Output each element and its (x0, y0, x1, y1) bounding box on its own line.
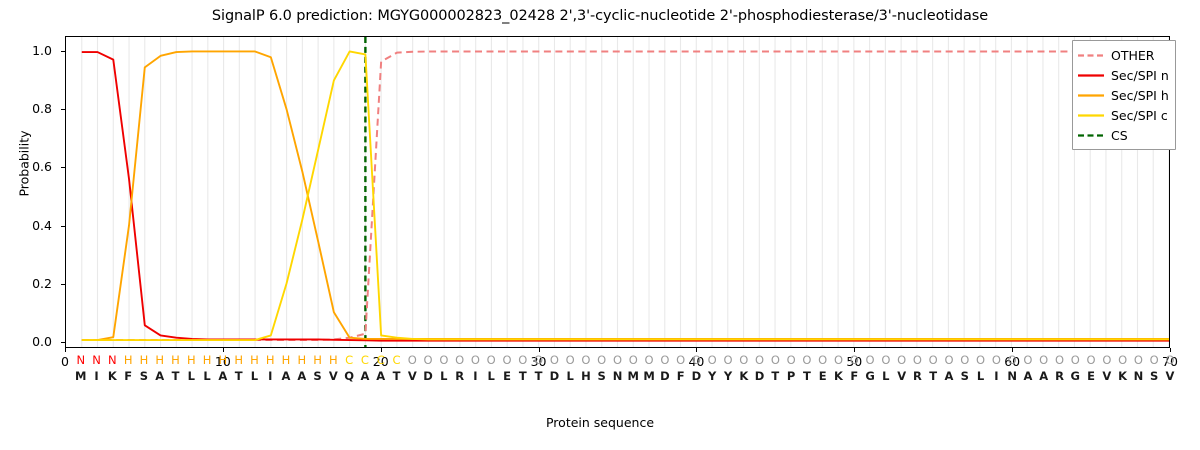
amino-acid-letter: V (1166, 368, 1175, 384)
region-annotation-letter: C (377, 352, 385, 368)
amino-acid-letter: T (519, 368, 527, 384)
region-annotation-letter: O (534, 352, 543, 368)
amino-acid-letter: G (865, 368, 874, 384)
amino-acid-letter: L (203, 368, 210, 384)
amino-acid-letter: I (994, 368, 998, 384)
amino-acid-letter: D (550, 368, 560, 384)
amino-acid-letter: D (423, 368, 433, 384)
region-annotation-letter: O (802, 352, 811, 368)
amino-acid-sequence-track: MIKFSATLLATLIAASVQAATVDLRILETTDLHSNMMDFD… (65, 368, 1170, 384)
region-annotation-letter: O (566, 352, 575, 368)
region-annotation-letter: H (140, 352, 149, 368)
region-annotation-letter: N (92, 352, 101, 368)
amino-acid-letter: A (297, 368, 306, 384)
amino-acid-letter: A (1039, 368, 1048, 384)
region-annotation-letter: O (487, 352, 496, 368)
amino-acid-letter: A (282, 368, 291, 384)
plot-area (65, 36, 1170, 348)
legend-line-swatch-icon (1078, 110, 1104, 121)
amino-acid-letter: E (1087, 368, 1095, 384)
region-annotation-letter: O (1008, 352, 1017, 368)
region-annotation-letter: C (345, 352, 353, 368)
amino-acid-letter: L (977, 368, 984, 384)
amino-acid-letter: R (455, 368, 464, 384)
legend-line-swatch-icon (1078, 130, 1104, 141)
amino-acid-letter: H (581, 368, 591, 384)
amino-acid-letter: Q (344, 368, 354, 384)
region-annotation-letter: H (203, 352, 212, 368)
amino-acid-letter: A (360, 368, 369, 384)
amino-acid-letter: D (755, 368, 765, 384)
region-annotation-letter: O (1023, 352, 1032, 368)
amino-acid-letter: T (172, 368, 180, 384)
region-annotation-letter: O (455, 352, 464, 368)
region-annotation-letter: O (645, 352, 654, 368)
region-annotation-letter: O (471, 352, 480, 368)
y-axis-ticks (0, 36, 65, 348)
amino-acid-letter: S (961, 368, 969, 384)
amino-acid-letter: T (803, 368, 811, 384)
region-annotation-letter: O (897, 352, 906, 368)
region-annotation-letter: O (692, 352, 701, 368)
signalp-prediction-figure: SignalP 6.0 prediction: MGYG000002823_02… (0, 0, 1200, 450)
amino-acid-letter: D (692, 368, 702, 384)
amino-acid-letter: V (1102, 368, 1111, 384)
legend-item-label: OTHER (1111, 48, 1154, 63)
region-annotation-letter: O (660, 352, 669, 368)
region-annotation-letter: H (219, 352, 228, 368)
amino-acid-letter: L (188, 368, 195, 384)
region-annotation-letter: O (439, 352, 448, 368)
amino-acid-letter: L (251, 368, 258, 384)
region-annotation-letter: H (187, 352, 196, 368)
amino-acid-letter: M (628, 368, 639, 384)
amino-acid-letter: K (108, 368, 117, 384)
amino-acid-letter: S (598, 368, 606, 384)
amino-acid-letter: E (503, 368, 511, 384)
amino-acid-letter: Y (724, 368, 732, 384)
amino-acid-letter: G (1071, 368, 1080, 384)
amino-acid-letter: R (1055, 368, 1064, 384)
amino-acid-letter: L (488, 368, 495, 384)
legend-item[interactable]: Sec/SPI n (1078, 65, 1169, 85)
region-annotation-letter: O (1071, 352, 1080, 368)
region-annotation-letter: H (297, 352, 306, 368)
amino-acid-letter: S (1150, 368, 1158, 384)
region-annotation-letter: O (787, 352, 796, 368)
legend-item[interactable]: Sec/SPI c (1078, 105, 1169, 125)
region-annotation-letter: O (723, 352, 732, 368)
region-annotation-letter: O (1165, 352, 1174, 368)
region-annotation-letter: O (992, 352, 1001, 368)
amino-acid-letter: A (155, 368, 164, 384)
region-annotation-letter: O (834, 352, 843, 368)
legend-line-swatch-icon (1078, 50, 1104, 61)
region-annotation-letter: O (550, 352, 559, 368)
legend-line-swatch-icon (1078, 70, 1104, 81)
amino-acid-letter: A (218, 368, 227, 384)
amino-acid-letter: N (1134, 368, 1144, 384)
page-title: SignalP 6.0 prediction: MGYG000002823_02… (0, 8, 1200, 24)
region-annotation-letter: O (424, 352, 433, 368)
region-annotation-letter: O (755, 352, 764, 368)
region-annotation-letter: O (944, 352, 953, 368)
region-annotation-letter: H (329, 352, 338, 368)
amino-acid-letter: F (124, 368, 132, 384)
amino-acid-letter: T (535, 368, 543, 384)
region-annotation-letter: O (408, 352, 417, 368)
region-annotation-letter: H (124, 352, 133, 368)
amino-acid-letter: A (945, 368, 954, 384)
amino-acid-letter: D (660, 368, 670, 384)
amino-acid-letter: L (566, 368, 573, 384)
amino-acid-letter: T (235, 368, 243, 384)
region-annotation-letter: O (1039, 352, 1048, 368)
region-annotation-letter: O (976, 352, 985, 368)
amino-acid-letter: F (850, 368, 858, 384)
sequence-tracks: NNNHHHHHHHHHHHHHHCCCCOOOOOOOOOOOOOOOOOOO… (65, 352, 1170, 388)
region-annotation-letter: O (913, 352, 922, 368)
series-lines (66, 37, 1169, 347)
amino-acid-letter: M (75, 368, 86, 384)
region-annotation-letter: O (881, 352, 890, 368)
region-annotation-letter: O (597, 352, 606, 368)
region-annotation-letter: C (392, 352, 400, 368)
region-annotation-letter: N (76, 352, 85, 368)
amino-acid-letter: K (834, 368, 843, 384)
region-annotation-letter: O (708, 352, 717, 368)
amino-acid-letter: M (643, 368, 654, 384)
region-annotation-letter: O (629, 352, 638, 368)
region-annotation-letter: H (266, 352, 275, 368)
amino-acid-letter: N (1007, 368, 1017, 384)
region-annotation-letter: O (518, 352, 527, 368)
amino-acid-letter: K (739, 368, 748, 384)
amino-acid-letter: V (329, 368, 338, 384)
amino-acid-letter: L (440, 368, 447, 384)
region-annotation-letter: O (739, 352, 748, 368)
region-annotation-letter: O (866, 352, 875, 368)
region-annotation-letter: O (613, 352, 622, 368)
legend-item[interactable]: CS (1078, 125, 1169, 145)
amino-acid-letter: K (1118, 368, 1127, 384)
region-annotation-letter: O (850, 352, 859, 368)
region-annotation-letter: H (155, 352, 164, 368)
amino-acid-letter: Y (708, 368, 716, 384)
amino-acid-letter: I (94, 368, 98, 384)
amino-acid-letter: E (819, 368, 827, 384)
amino-acid-letter: N (613, 368, 623, 384)
legend-item-label: Sec/SPI h (1111, 88, 1169, 103)
region-annotation-letter: H (282, 352, 291, 368)
amino-acid-letter: T (929, 368, 937, 384)
amino-acid-letter: S (313, 368, 321, 384)
region-annotation-letter: H (313, 352, 322, 368)
region-annotation-letter: O (771, 352, 780, 368)
region-annotation-letter: O (1150, 352, 1159, 368)
legend-line-swatch-icon (1078, 90, 1104, 101)
region-annotation-letter: H (234, 352, 243, 368)
legend: OTHERSec/SPI nSec/SPI hSec/SPI cCS (1072, 40, 1176, 150)
region-annotation-letter: O (676, 352, 685, 368)
amino-acid-letter: T (393, 368, 401, 384)
region-annotation-letter: O (929, 352, 938, 368)
amino-acid-letter: I (268, 368, 272, 384)
legend-item[interactable]: Sec/SPI h (1078, 85, 1169, 105)
legend-item-label: Sec/SPI c (1111, 108, 1168, 123)
region-annotation-letter: O (1087, 352, 1096, 368)
amino-acid-letter: F (677, 368, 685, 384)
amino-acid-letter: V (897, 368, 906, 384)
amino-acid-letter: R (913, 368, 922, 384)
amino-acid-letter: L (882, 368, 889, 384)
legend-item[interactable]: OTHER (1078, 45, 1169, 65)
region-annotation-letter: O (1118, 352, 1127, 368)
region-annotation-letter: N (108, 352, 117, 368)
legend-item-label: CS (1111, 128, 1128, 143)
region-annotation-letter: H (250, 352, 259, 368)
amino-acid-letter: P (787, 368, 795, 384)
amino-acid-letter: S (140, 368, 148, 384)
region-annotation-track: NNNHHHHHHHHHHHHHHCCCCOOOOOOOOOOOOOOOOOOO… (65, 352, 1170, 368)
x-axis-title: Protein sequence (0, 415, 1200, 430)
legend-item-label: Sec/SPI n (1111, 68, 1169, 83)
region-annotation-letter: H (171, 352, 180, 368)
amino-acid-letter: A (376, 368, 385, 384)
amino-acid-letter: V (408, 368, 417, 384)
region-annotation-letter: C (361, 352, 369, 368)
region-annotation-letter: O (1055, 352, 1064, 368)
region-annotation-letter: O (502, 352, 511, 368)
region-annotation-letter: O (581, 352, 590, 368)
amino-acid-letter: A (1023, 368, 1032, 384)
amino-acid-letter: T (771, 368, 779, 384)
region-annotation-letter: O (818, 352, 827, 368)
amino-acid-letter: I (473, 368, 477, 384)
region-annotation-letter: O (960, 352, 969, 368)
region-annotation-letter: O (1134, 352, 1143, 368)
region-annotation-letter: O (1102, 352, 1111, 368)
